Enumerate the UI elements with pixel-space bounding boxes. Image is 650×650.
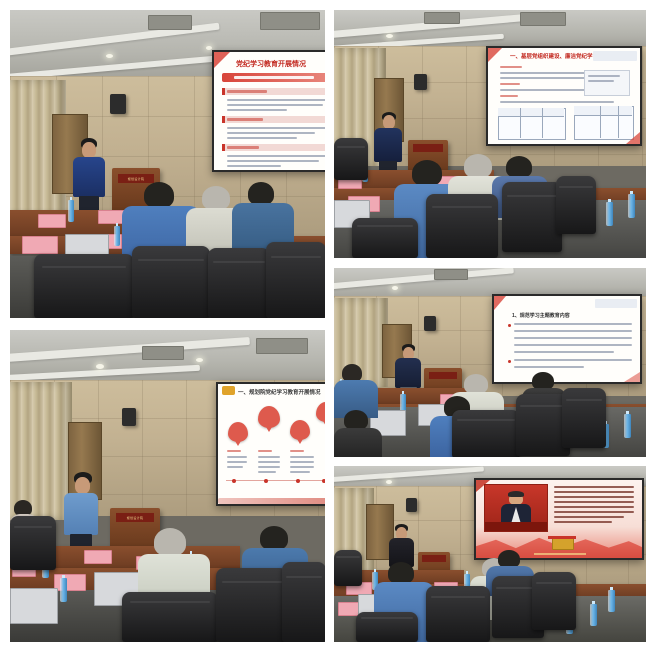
slide-title-3: 1、规范学习主题教育内容 (512, 312, 570, 319)
name-card (22, 236, 58, 254)
laptop (10, 588, 58, 624)
name-card (38, 214, 66, 228)
slide-title-1: 党纪学习教育开展情况 (236, 59, 306, 69)
photo-middle-right[interactable]: 1、规范学习主题教育内容 (334, 268, 646, 457)
projection-screen: 1、规范学习主题教育内容 (492, 294, 642, 384)
slide-leader-photo (484, 484, 548, 532)
water-bottle (60, 578, 67, 602)
slide-logo (593, 51, 637, 61)
photo-collage: 党纪学习教育开展情况 (0, 0, 650, 650)
wall-speaker-icon (414, 74, 427, 90)
photo-top-right[interactable]: 一、基层党组织建设、廉洁党纪学习教育各项成果 (334, 10, 646, 258)
photo-bottom-left[interactable]: 一、规划院党纪学习教育开展情况 (10, 330, 325, 642)
wall-speaker-icon (406, 498, 417, 512)
water-bottle (68, 200, 74, 222)
photo-top-left[interactable]: 党纪学习教育开展情况 (10, 10, 325, 318)
projection-screen: 党纪学习教育开展情况 (212, 50, 325, 172)
water-bottle (590, 604, 597, 626)
water-bottle (608, 590, 615, 612)
podium-plate-label: 规划设计院 (116, 513, 154, 522)
slide-logo (595, 299, 637, 308)
water-bottle (606, 202, 613, 226)
water-bottle (114, 226, 120, 246)
projection-screen: 一、规划院党纪学习教育开展情况 (216, 382, 325, 506)
wall-speaker-icon (122, 408, 136, 426)
water-bottle (628, 194, 635, 218)
projection-screen: 一、基层党组织建设、廉洁党纪学习教育各项成果 (486, 46, 642, 146)
name-card (54, 574, 86, 591)
wall-speaker-icon (110, 94, 126, 114)
wall-speaker-icon (424, 316, 436, 331)
photo-bottom-right[interactable] (334, 466, 646, 642)
name-card (84, 550, 112, 564)
water-bottle (624, 414, 631, 438)
projection-screen (474, 478, 644, 560)
slide-title-4: 一、规划院党纪学习教育开展情况 (238, 388, 321, 396)
